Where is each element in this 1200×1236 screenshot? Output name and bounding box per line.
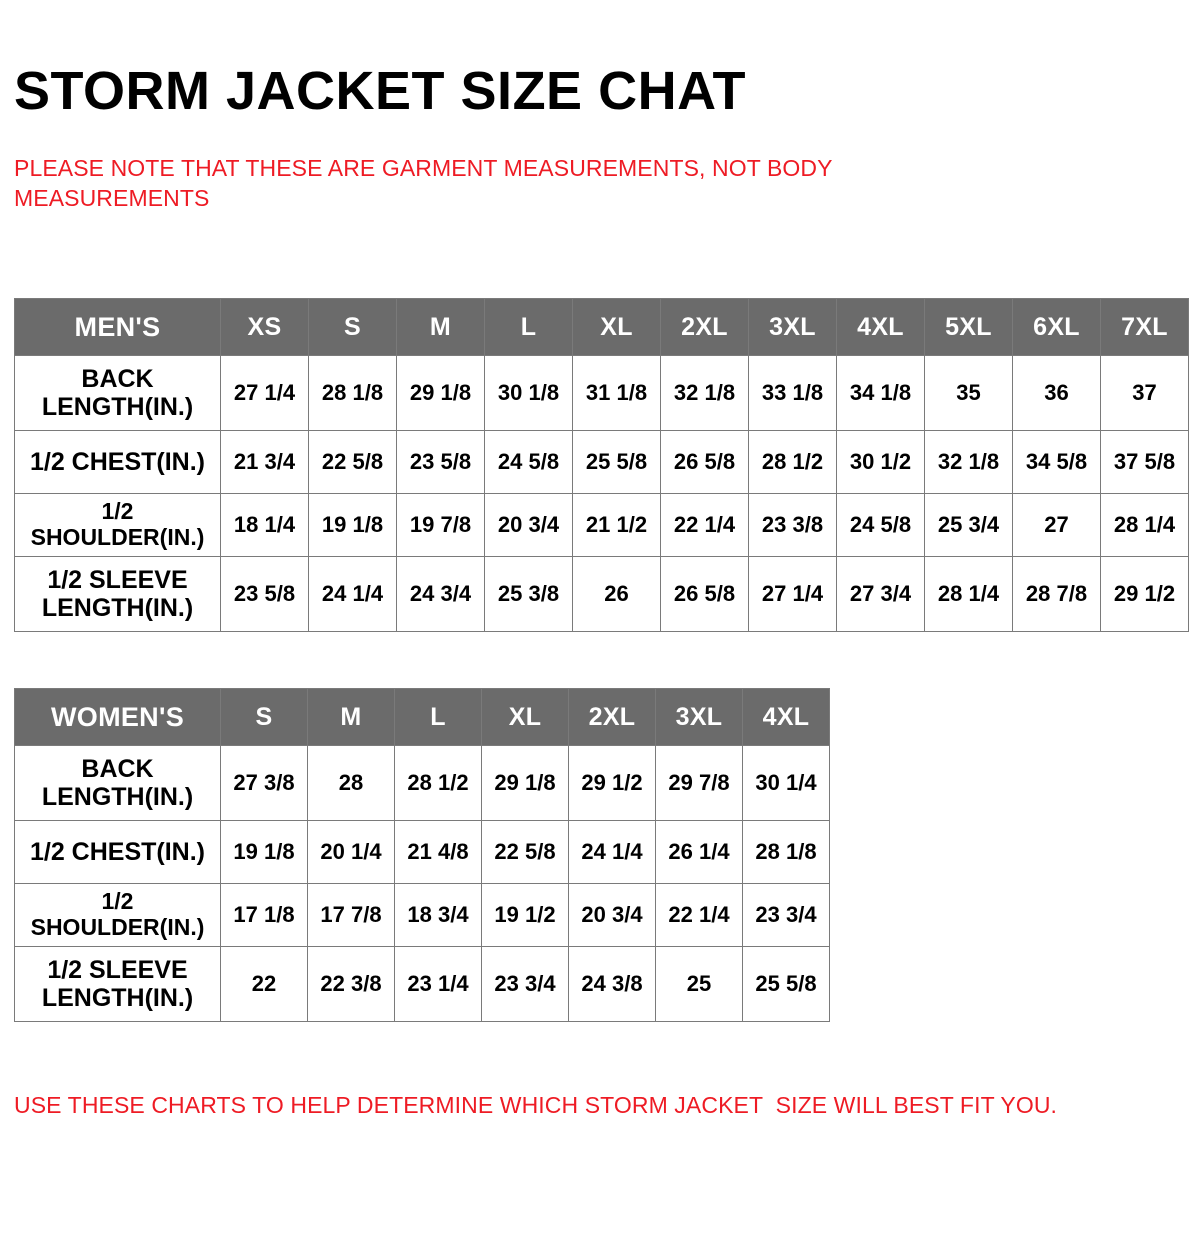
mens-size-header-s: S <box>309 299 397 356</box>
page-title: STORM JACKET SIZE CHAT <box>14 36 1186 118</box>
womens-header-row: WOMEN'SSMLXL2XL3XL4XL <box>15 689 830 746</box>
measurement-cell: 30 1/4 <box>743 746 830 821</box>
measurement-cell: 28 <box>308 746 395 821</box>
measurement-cell: 22 1/4 <box>661 494 749 557</box>
measurement-cell: 32 1/8 <box>925 431 1013 494</box>
mens-table-head: MEN'SXSSMLXL2XL3XL4XL5XL6XL7XL <box>15 299 1189 356</box>
measurement-cell: 33 1/8 <box>749 356 837 431</box>
measurement-cell: 24 5/8 <box>485 431 573 494</box>
measurement-cell: 29 1/2 <box>569 746 656 821</box>
mens-size-header-4xl: 4XL <box>837 299 925 356</box>
mens-size-header-xl: XL <box>573 299 661 356</box>
mens-row-label: BACKLENGTH(IN.) <box>15 356 221 431</box>
measurement-cell: 19 1/2 <box>482 884 569 947</box>
measurement-cell: 26 5/8 <box>661 431 749 494</box>
measurement-cell: 23 3/4 <box>743 884 830 947</box>
measurement-cell: 19 1/8 <box>309 494 397 557</box>
measurement-cell: 28 1/2 <box>749 431 837 494</box>
womens-row-label: 1/2 SHOULDER(IN.) <box>15 884 221 947</box>
measurement-cell: 22 5/8 <box>309 431 397 494</box>
womens-size-header-l: L <box>395 689 482 746</box>
measurement-cell: 25 3/8 <box>485 557 573 632</box>
measurement-cell: 23 3/4 <box>482 947 569 1022</box>
measurement-cell: 36 <box>1013 356 1101 431</box>
garment-measurement-note: PLEASE NOTE THAT THESE ARE GARMENT MEASU… <box>14 154 974 213</box>
mens-size-table: MEN'SXSSMLXL2XL3XL4XL5XL6XL7XL BACKLENGT… <box>14 298 1189 632</box>
mens-table-body: BACKLENGTH(IN.)27 1/428 1/829 1/830 1/83… <box>15 356 1189 632</box>
mens-size-header-2xl: 2XL <box>661 299 749 356</box>
mens-size-header-3xl: 3XL <box>749 299 837 356</box>
table-row: 1/2 SHOULDER(IN.)17 1/817 7/818 3/419 1/… <box>15 884 830 947</box>
mens-size-header-6xl: 6XL <box>1013 299 1101 356</box>
measurement-cell: 25 3/4 <box>925 494 1013 557</box>
table-row: 1/2 SLEEVELENGTH(IN.)2222 3/823 1/423 3/… <box>15 947 830 1022</box>
measurement-cell: 27 3/8 <box>221 746 308 821</box>
measurement-cell: 27 <box>1013 494 1101 557</box>
measurement-cell: 25 <box>656 947 743 1022</box>
womens-row-label: 1/2 CHEST(IN.) <box>15 821 221 884</box>
measurement-cell: 34 1/8 <box>837 356 925 431</box>
size-chart-page: STORM JACKET SIZE CHAT PLEASE NOTE THAT … <box>0 36 1200 1236</box>
measurement-cell: 32 1/8 <box>661 356 749 431</box>
measurement-cell: 28 1/8 <box>743 821 830 884</box>
womens-table-corner-label: WOMEN'S <box>15 689 221 746</box>
measurement-cell: 27 1/4 <box>749 557 837 632</box>
table-row: 1/2 SHOULDER(IN.)18 1/419 1/819 7/820 3/… <box>15 494 1189 557</box>
measurement-cell: 20 3/4 <box>485 494 573 557</box>
measurement-cell: 22 1/4 <box>656 884 743 947</box>
mens-size-header-5xl: 5XL <box>925 299 1013 356</box>
measurement-cell: 20 1/4 <box>308 821 395 884</box>
measurement-cell: 26 <box>573 557 661 632</box>
measurement-cell: 22 3/8 <box>308 947 395 1022</box>
measurement-cell: 23 5/8 <box>221 557 309 632</box>
mens-header-row: MEN'SXSSMLXL2XL3XL4XL5XL6XL7XL <box>15 299 1189 356</box>
measurement-cell: 27 3/4 <box>837 557 925 632</box>
measurement-cell: 25 5/8 <box>743 947 830 1022</box>
mens-table-corner-label: MEN'S <box>15 299 221 356</box>
womens-row-label: BACKLENGTH(IN.) <box>15 746 221 821</box>
womens-size-table-block: WOMEN'SSMLXL2XL3XL4XL BACKLENGTH(IN.)27 … <box>14 688 830 1022</box>
measurement-cell: 23 3/8 <box>749 494 837 557</box>
measurement-cell: 24 3/4 <box>397 557 485 632</box>
table-row: BACKLENGTH(IN.)27 1/428 1/829 1/830 1/83… <box>15 356 1189 431</box>
mens-row-label: 1/2 SHOULDER(IN.) <box>15 494 221 557</box>
measurement-cell: 34 5/8 <box>1013 431 1101 494</box>
table-row: 1/2 SLEEVELENGTH(IN.)23 5/824 1/424 3/42… <box>15 557 1189 632</box>
mens-row-label: 1/2 SLEEVELENGTH(IN.) <box>15 557 221 632</box>
measurement-cell: 27 1/4 <box>221 356 309 431</box>
measurement-cell: 37 <box>1101 356 1189 431</box>
womens-size-header-s: S <box>221 689 308 746</box>
measurement-cell: 29 1/8 <box>397 356 485 431</box>
measurement-cell: 21 4/8 <box>395 821 482 884</box>
womens-size-header-2xl: 2XL <box>569 689 656 746</box>
table-row: 1/2 CHEST(IN.)19 1/820 1/421 4/822 5/824… <box>15 821 830 884</box>
measurement-cell: 20 3/4 <box>569 884 656 947</box>
measurement-cell: 35 <box>925 356 1013 431</box>
measurement-cell: 17 7/8 <box>308 884 395 947</box>
table-row: 1/2 CHEST(IN.)21 3/422 5/823 5/824 5/825… <box>15 431 1189 494</box>
womens-table-body: BACKLENGTH(IN.)27 3/82828 1/229 1/829 1/… <box>15 746 830 1022</box>
measurement-cell: 24 1/4 <box>309 557 397 632</box>
measurement-cell: 23 5/8 <box>397 431 485 494</box>
measurement-cell: 29 1/8 <box>482 746 569 821</box>
measurement-cell: 24 5/8 <box>837 494 925 557</box>
chart-usage-footer: USE THESE CHARTS TO HELP DETERMINE WHICH… <box>14 1092 1057 1119</box>
measurement-cell: 28 1/4 <box>1101 494 1189 557</box>
measurement-cell: 28 7/8 <box>1013 557 1101 632</box>
measurement-cell: 31 1/8 <box>573 356 661 431</box>
measurement-cell: 28 1/4 <box>925 557 1013 632</box>
womens-size-header-4xl: 4XL <box>743 689 830 746</box>
measurement-cell: 23 1/4 <box>395 947 482 1022</box>
measurement-cell: 26 5/8 <box>661 557 749 632</box>
measurement-cell: 29 1/2 <box>1101 557 1189 632</box>
measurement-cell: 30 1/2 <box>837 431 925 494</box>
mens-row-label: 1/2 CHEST(IN.) <box>15 431 221 494</box>
womens-table-head: WOMEN'SSMLXL2XL3XL4XL <box>15 689 830 746</box>
womens-size-header-3xl: 3XL <box>656 689 743 746</box>
measurement-cell: 18 3/4 <box>395 884 482 947</box>
mens-size-header-m: M <box>397 299 485 356</box>
measurement-cell: 29 7/8 <box>656 746 743 821</box>
mens-size-header-xs: XS <box>221 299 309 356</box>
measurement-cell: 22 <box>221 947 308 1022</box>
measurement-cell: 24 3/8 <box>569 947 656 1022</box>
measurement-cell: 30 1/8 <box>485 356 573 431</box>
womens-row-label: 1/2 SLEEVELENGTH(IN.) <box>15 947 221 1022</box>
measurement-cell: 18 1/4 <box>221 494 309 557</box>
measurement-cell: 19 1/8 <box>221 821 308 884</box>
measurement-cell: 19 7/8 <box>397 494 485 557</box>
measurement-cell: 24 1/4 <box>569 821 656 884</box>
mens-size-header-l: L <box>485 299 573 356</box>
measurement-cell: 25 5/8 <box>573 431 661 494</box>
measurement-cell: 21 1/2 <box>573 494 661 557</box>
measurement-cell: 28 1/8 <box>309 356 397 431</box>
womens-size-header-xl: XL <box>482 689 569 746</box>
measurement-cell: 26 1/4 <box>656 821 743 884</box>
mens-size-table-block: MEN'SXSSMLXL2XL3XL4XL5XL6XL7XL BACKLENGT… <box>14 298 1189 632</box>
mens-size-header-7xl: 7XL <box>1101 299 1189 356</box>
womens-size-table: WOMEN'SSMLXL2XL3XL4XL BACKLENGTH(IN.)27 … <box>14 688 830 1022</box>
measurement-cell: 17 1/8 <box>221 884 308 947</box>
womens-size-header-m: M <box>308 689 395 746</box>
measurement-cell: 21 3/4 <box>221 431 309 494</box>
measurement-cell: 37 5/8 <box>1101 431 1189 494</box>
table-row: BACKLENGTH(IN.)27 3/82828 1/229 1/829 1/… <box>15 746 830 821</box>
measurement-cell: 28 1/2 <box>395 746 482 821</box>
measurement-cell: 22 5/8 <box>482 821 569 884</box>
